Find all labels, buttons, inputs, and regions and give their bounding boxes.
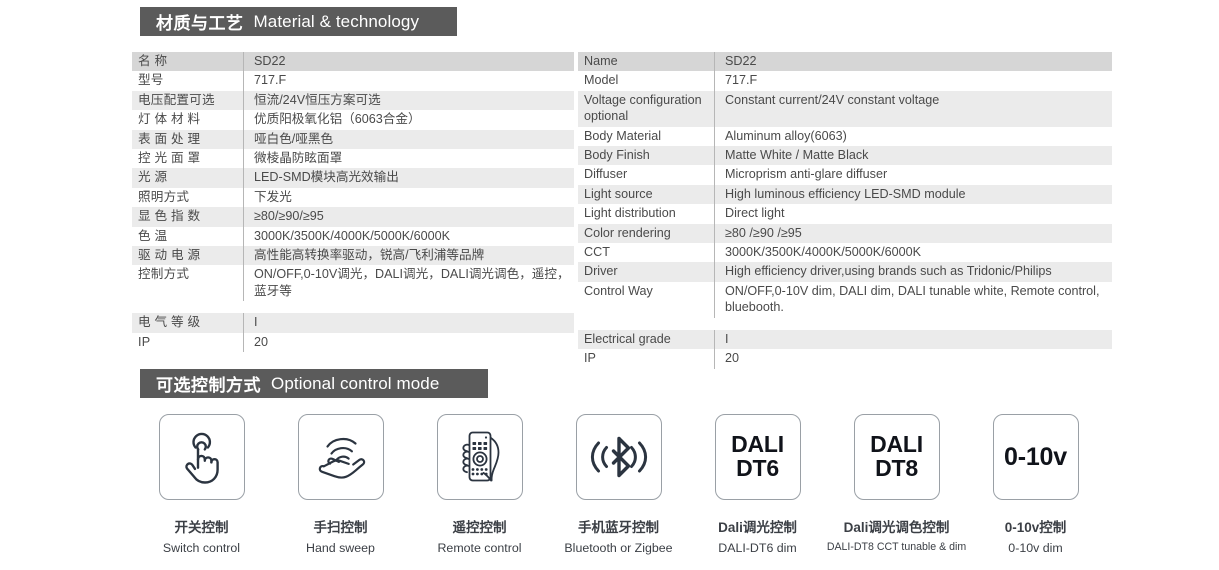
control-mode-switch[interactable]: 开关控制 Switch control <box>132 414 271 555</box>
spec-value: ≥80/≥90/≥95 <box>244 207 575 226</box>
spec-key: 型号 <box>132 71 244 90</box>
spec-value: Direct light <box>715 204 1113 223</box>
table-row: 灯 体 材 料 优质阳极氧化铝（6063合金） <box>132 110 574 129</box>
control-mode-icon-box: DALI DT8 <box>854 414 940 500</box>
table-row: 电压配置可选 恒流/24V恒压方案可选 <box>132 91 574 110</box>
control-mode-label-cn: 手机蓝牙控制 <box>578 516 659 536</box>
control-mode-0-10v[interactable]: 0-10v 0-10v控制 0-10v dim <box>966 414 1105 555</box>
spec-key: Control Way <box>578 282 715 318</box>
control-mode-bluetooth[interactable]: 手机蓝牙控制 Bluetooth or Zigbee <box>549 414 688 555</box>
table-row: IP 20 <box>132 333 574 352</box>
spec-value: Aluminum alloy(6063) <box>715 127 1113 146</box>
dali-dt6-badge-line1: DALI <box>731 431 784 457</box>
dali-dt8-badge-line2: DT8 <box>875 455 918 481</box>
spec-value: 优质阳极氧化铝（6063合金） <box>244 110 575 129</box>
spec-key: Diffuser <box>578 165 715 184</box>
control-mode-remote[interactable]: 遥控控制 Remote control <box>410 414 549 555</box>
section-header-control-mode-cn: 可选控制方式 <box>156 371 261 396</box>
table-row: 显 色 指 数 ≥80/≥90/≥95 <box>132 207 574 226</box>
control-mode-dali-dt8[interactable]: DALI DT8 Dali调光调色控制 DALI-DT8 CCT tunable… <box>827 414 966 555</box>
control-mode-icon-box <box>576 414 662 500</box>
control-mode-label-cn: 遥控控制 <box>453 516 507 536</box>
control-mode-icon-box: DALI DT6 <box>715 414 801 500</box>
remote-control-icon <box>451 426 509 488</box>
table-row: Model 717.F <box>578 71 1112 90</box>
section-header-material-en: Material & technology <box>254 12 420 32</box>
spacer-cell <box>578 318 715 330</box>
spec-value: 3000K/3500K/4000K/5000K/6000K <box>244 227 575 246</box>
zero-ten-volt-badge-icon: 0-10v <box>1004 444 1067 470</box>
spec-key: 光 源 <box>132 168 244 187</box>
spec-key: 驱 动 电 源 <box>132 246 244 265</box>
spec-table-chinese-body: 名 称 SD22 型号 717.F 电压配置可选 恒流/24V恒压方案可选 灯 … <box>132 52 574 352</box>
table-row: Diffuser Microprism anti-glare diffuser <box>578 165 1112 184</box>
spec-value: 717.F <box>715 71 1113 90</box>
dali-dt6-badge-line2: DT6 <box>736 455 779 481</box>
spec-key: 电压配置可选 <box>132 91 244 110</box>
table-row: Body Finish Matte White / Matte Black <box>578 146 1112 165</box>
spec-key: 表 面 处 理 <box>132 130 244 149</box>
table-row: 控 光 面 罩 微棱晶防眩面罩 <box>132 149 574 168</box>
dali-dt8-badge-icon: DALI DT8 <box>870 433 923 481</box>
spec-value: Constant current/24V constant voltage <box>715 91 1113 127</box>
spec-table-chinese: 名 称 SD22 型号 717.F 电压配置可选 恒流/24V恒压方案可选 灯 … <box>132 52 574 352</box>
spacer-cell <box>715 318 1113 330</box>
spec-value: 3000K/3500K/4000K/5000K/6000K <box>715 243 1113 262</box>
spec-key: 控制方式 <box>132 265 244 301</box>
spec-value: ON/OFF,0-10V调光，DALI调光，DALI调光调色，遥控，蓝牙等 <box>244 265 575 301</box>
spec-value: 哑白色/哑黑色 <box>244 130 575 149</box>
spec-key: 电 气 等 级 <box>132 313 244 332</box>
spec-key: 名 称 <box>132 52 244 71</box>
table-row: Light distribution Direct light <box>578 204 1112 223</box>
table-row: 表 面 处 理 哑白色/哑黑色 <box>132 130 574 149</box>
control-mode-label-cn: 0-10v控制 <box>1005 516 1067 536</box>
spec-key: IP <box>578 349 715 368</box>
control-mode-label-en: Remote control <box>437 541 521 555</box>
spec-value: I <box>244 313 575 332</box>
table-row: 照明方式 下发光 <box>132 188 574 207</box>
control-mode-label-cn: 手扫控制 <box>314 516 368 536</box>
control-mode-label-en: Bluetooth or Zigbee <box>564 541 672 555</box>
table-row: 名 称 SD22 <box>132 52 574 71</box>
spec-table-english: Name SD22 Model 717.F Voltage configurat… <box>578 52 1112 369</box>
table-row: Color rendering ≥80 /≥90 /≥95 <box>578 224 1112 243</box>
table-spacer-row <box>578 318 1112 330</box>
spec-key: 显 色 指 数 <box>132 207 244 226</box>
table-row: Body Material Aluminum alloy(6063) <box>578 127 1112 146</box>
table-row: Light source High luminous efficiency LE… <box>578 185 1112 204</box>
control-mode-label-en: DALI-DT8 CCT tunable & dim <box>827 541 966 553</box>
spec-value: ON/OFF,0-10V dim, DALI dim, DALI tunable… <box>715 282 1113 318</box>
section-header-control-mode-en: Optional control mode <box>271 374 439 394</box>
spec-value: I <box>715 330 1113 349</box>
table-row: 色 温 3000K/3500K/4000K/5000K/6000K <box>132 227 574 246</box>
spacer-cell <box>244 301 575 313</box>
spec-key: 控 光 面 罩 <box>132 149 244 168</box>
bluetooth-signal-icon <box>585 434 653 480</box>
table-row: 光 源 LED-SMD模块高光效输出 <box>132 168 574 187</box>
control-mode-list: 开关控制 Switch control 手扫控制 Hand sweep <box>132 414 1107 555</box>
spec-key: CCT <box>578 243 715 262</box>
spec-key: Light distribution <box>578 204 715 223</box>
spec-key: 灯 体 材 料 <box>132 110 244 129</box>
control-mode-label-en: DALI-DT6 dim <box>718 541 797 555</box>
spec-value: 20 <box>715 349 1113 368</box>
spec-value: 恒流/24V恒压方案可选 <box>244 91 575 110</box>
spec-value: SD22 <box>244 52 575 71</box>
control-mode-label-cn: 开关控制 <box>175 516 229 536</box>
spec-key: Name <box>578 52 715 71</box>
control-mode-label-cn: Dali调光调色控制 <box>844 516 950 536</box>
control-mode-icon-box <box>159 414 245 500</box>
spec-value: 717.F <box>244 71 575 90</box>
spec-key: Color rendering <box>578 224 715 243</box>
section-header-material-cn: 材质与工艺 <box>156 9 244 34</box>
table-row: Control Way ON/OFF,0-10V dim, DALI dim, … <box>578 282 1112 318</box>
spec-value: 高性能高转换率驱动，锐高/飞利浦等品牌 <box>244 246 575 265</box>
spacer-cell <box>132 301 244 313</box>
table-row: Name SD22 <box>578 52 1112 71</box>
spec-key: Driver <box>578 262 715 281</box>
table-row: IP 20 <box>578 349 1112 368</box>
control-mode-icon-box <box>437 414 523 500</box>
table-row: 型号 717.F <box>132 71 574 90</box>
control-mode-label-cn: Dali调光控制 <box>718 516 797 536</box>
spec-value: 20 <box>244 333 575 352</box>
table-row: Electrical grade I <box>578 330 1112 349</box>
spec-value: 下发光 <box>244 188 575 207</box>
spec-value: Microprism anti-glare diffuser <box>715 165 1113 184</box>
table-row: 控制方式 ON/OFF,0-10V调光，DALI调光，DALI调光调色，遥控，蓝… <box>132 265 574 301</box>
spec-key: Body Finish <box>578 146 715 165</box>
spec-key: 色 温 <box>132 227 244 246</box>
spec-key: Voltage configuration optional <box>578 91 715 127</box>
dali-dt6-badge-icon: DALI DT6 <box>731 433 784 481</box>
control-mode-icon-box: 0-10v <box>993 414 1079 500</box>
control-mode-label-en: 0-10v dim <box>1008 541 1062 555</box>
spec-value: ≥80 /≥90 /≥95 <box>715 224 1113 243</box>
spec-value: 微棱晶防眩面罩 <box>244 149 575 168</box>
spec-key: IP <box>132 333 244 352</box>
spec-key: Light source <box>578 185 715 204</box>
spec-key: Model <box>578 71 715 90</box>
hand-sweep-icon <box>310 429 372 485</box>
spec-key: Electrical grade <box>578 330 715 349</box>
table-row: Driver High efficiency driver,using bran… <box>578 262 1112 281</box>
control-mode-label-en: Hand sweep <box>306 541 375 555</box>
control-mode-dali-dt6[interactable]: DALI DT6 Dali调光控制 DALI-DT6 dim <box>688 414 827 555</box>
spec-key: Body Material <box>578 127 715 146</box>
spec-table-english-body: Name SD22 Model 717.F Voltage configurat… <box>578 52 1112 369</box>
control-mode-label-en: Switch control <box>163 541 240 555</box>
table-row: Voltage configuration optional Constant … <box>578 91 1112 127</box>
spec-value: SD22 <box>715 52 1113 71</box>
spec-key: 照明方式 <box>132 188 244 207</box>
spec-value: Matte White / Matte Black <box>715 146 1113 165</box>
table-row: 电 气 等 级 I <box>132 313 574 332</box>
table-row: 驱 动 电 源 高性能高转换率驱动，锐高/飞利浦等品牌 <box>132 246 574 265</box>
table-spacer-row <box>132 301 574 313</box>
section-header-control-mode: 可选控制方式 Optional control mode <box>140 369 488 398</box>
control-mode-hand-sweep[interactable]: 手扫控制 Hand sweep <box>271 414 410 555</box>
dali-dt8-badge-line1: DALI <box>870 431 923 457</box>
section-header-material: 材质与工艺 Material & technology <box>140 7 457 36</box>
control-mode-icon-box <box>298 414 384 500</box>
spec-value: LED-SMD模块高光效输出 <box>244 168 575 187</box>
touch-hand-icon <box>175 428 229 486</box>
spec-value: High luminous efficiency LED-SMD module <box>715 185 1113 204</box>
table-row: CCT 3000K/3500K/4000K/5000K/6000K <box>578 243 1112 262</box>
spec-value: High efficiency driver,using brands such… <box>715 262 1113 281</box>
